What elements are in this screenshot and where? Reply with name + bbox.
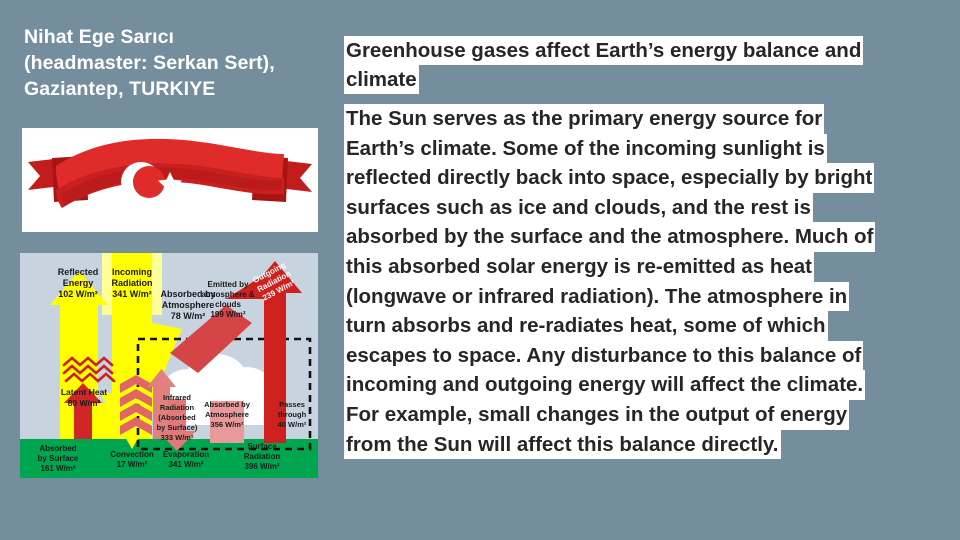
body-line: For example, small changes in the output… (344, 400, 849, 430)
body-paragraph: The Sun serves as the primary energy sou… (344, 104, 944, 459)
label-passes-line2: through (278, 410, 307, 419)
label-emitted-line3: clouds (215, 300, 241, 309)
body-line: Earth’s climate. Some of the incoming su… (344, 134, 827, 164)
earth-energy-budget-image: .dl { font-family:"Liberation Sans", san… (20, 253, 318, 478)
author-name: Nihat Ege Sarıcı (24, 24, 334, 50)
label-incoming-radiation-line1: Incoming (112, 267, 152, 277)
body-line: reflected directly back into space, espe… (344, 163, 874, 193)
label-evaporation-value: 341 W/m² (168, 460, 203, 469)
label-emitted-line1: Emitted by (208, 280, 249, 289)
label-infrared-line1: Infrared (163, 393, 191, 402)
section-heading: Greenhouse gases affect Earth’s energy b… (344, 36, 944, 94)
body-line: from the Sun will affect this balance di… (344, 430, 781, 460)
label-reflected-energy-value: 102 W/m² (58, 289, 98, 299)
label-surface-radiation-line1: Surface (247, 442, 277, 451)
label-convection: Convection (110, 450, 154, 459)
body-line: turn absorbs and re-radiates heat, some … (344, 311, 828, 341)
label-passes-value: 40 W/m² (278, 420, 307, 429)
label-emitted-value: 199 W/m² (210, 310, 245, 319)
label-emitted-line2: atmosphere & (201, 290, 255, 299)
label-surface-radiation-line2: Radiation (244, 452, 281, 461)
body-line: The Sun serves as the primary energy sou… (344, 104, 824, 134)
label-convection-value: 17 W/m² (117, 460, 148, 469)
body-line: incoming and outgoing energy will affect… (344, 370, 865, 400)
flag-ribbon-graphic (22, 128, 318, 232)
label-surface-radiation-value: 396 W/m² (244, 462, 279, 471)
label-infrared-line2: Radiation (160, 403, 195, 412)
body-line: this absorbed solar energy is re-emitted… (344, 252, 814, 282)
label-absorbed-surface-value: 161 W/m² (40, 464, 75, 473)
author-affiliation-block: Nihat Ege Sarıcı (headmaster: Serkan Ser… (24, 24, 334, 102)
turkish-flag-ribbon-image (22, 128, 318, 232)
label-absorbed-atm2-line1: Absorbed by (204, 400, 251, 409)
label-latent-heat: Latent Heat (61, 387, 107, 397)
label-reflected-energy-line1: Reflected (58, 267, 99, 277)
label-absorbed-surface-line1: Absorbed (39, 444, 76, 453)
content-column: Greenhouse gases affect Earth’s energy b… (344, 36, 944, 459)
body-line: escapes to space. Any disturbance to thi… (344, 341, 863, 371)
label-absorbed-atm2-value: 356 W/m² (211, 420, 244, 429)
label-absorbed-atmosphere-value: 78 W/m² (171, 311, 206, 321)
author-location: Gaziantep, TURKIYE (24, 76, 334, 102)
label-infrared-value: 333 W/m² (161, 433, 194, 442)
label-infrared-line3: (Absorbed (158, 413, 196, 422)
label-evaporation: Evaporation (163, 450, 209, 459)
label-latent-heat-value: 80 W/m² (68, 398, 101, 408)
label-absorbed-surface-line2: by Surface (38, 454, 79, 463)
label-reflected-energy-line2: Energy (63, 278, 94, 288)
author-affiliation: (headmaster: Serkan Sert), (24, 50, 334, 76)
heading-line: Greenhouse gases affect Earth’s energy b… (344, 36, 863, 65)
body-line: surfaces such as ice and clouds, and the… (344, 193, 813, 223)
label-absorbed-atm2-line2: Atmosphere (205, 410, 249, 419)
body-line: (longwave or infrared radiation). The at… (344, 282, 849, 312)
body-line: absorbed by the surface and the atmosphe… (344, 222, 875, 252)
label-incoming-radiation-line2: Radiation (111, 278, 152, 288)
slide-canvas: Nihat Ege Sarıcı (headmaster: Serkan Ser… (0, 0, 960, 540)
label-incoming-radiation-value: 341 W/m² (112, 289, 152, 299)
energy-budget-graphic: .dl { font-family:"Liberation Sans", san… (20, 253, 318, 478)
label-infrared-line4: by Surface) (157, 423, 198, 432)
label-passes-line1: Passes (279, 400, 305, 409)
heading-line: climate (344, 65, 419, 94)
label-absorbed-atmosphere-line2: Atmosphere (162, 300, 215, 310)
